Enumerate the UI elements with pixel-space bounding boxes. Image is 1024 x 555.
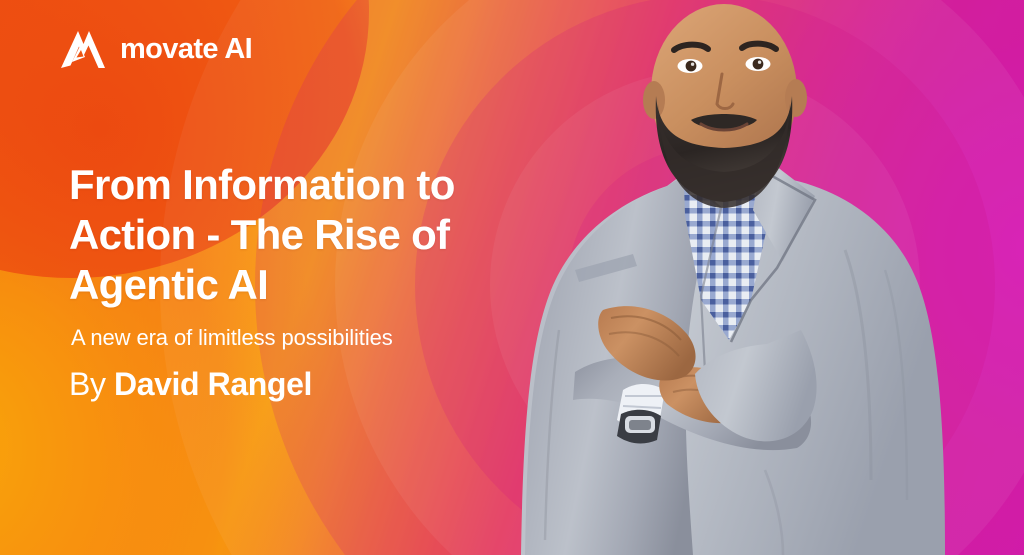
byline-prefix: By bbox=[69, 366, 106, 402]
hero-copy: From Information to Action - The Rise of… bbox=[69, 160, 539, 404]
byline-speaker-name: David Rangel bbox=[114, 366, 312, 402]
webinar-hero-banner: movate AI From Information to Action - T… bbox=[0, 0, 1024, 555]
movate-ai-logo[interactable]: movate AI bbox=[58, 26, 252, 72]
speaker-portrait bbox=[515, 0, 985, 555]
page-title: From Information to Action - The Rise of… bbox=[69, 160, 539, 310]
movate-chevron-mark-icon bbox=[58, 27, 108, 71]
hero-byline: By David Rangel bbox=[69, 365, 539, 403]
hero-subtitle: A new era of limitless possibilities bbox=[71, 324, 539, 352]
logo-wordmark: movate AI bbox=[120, 35, 252, 64]
